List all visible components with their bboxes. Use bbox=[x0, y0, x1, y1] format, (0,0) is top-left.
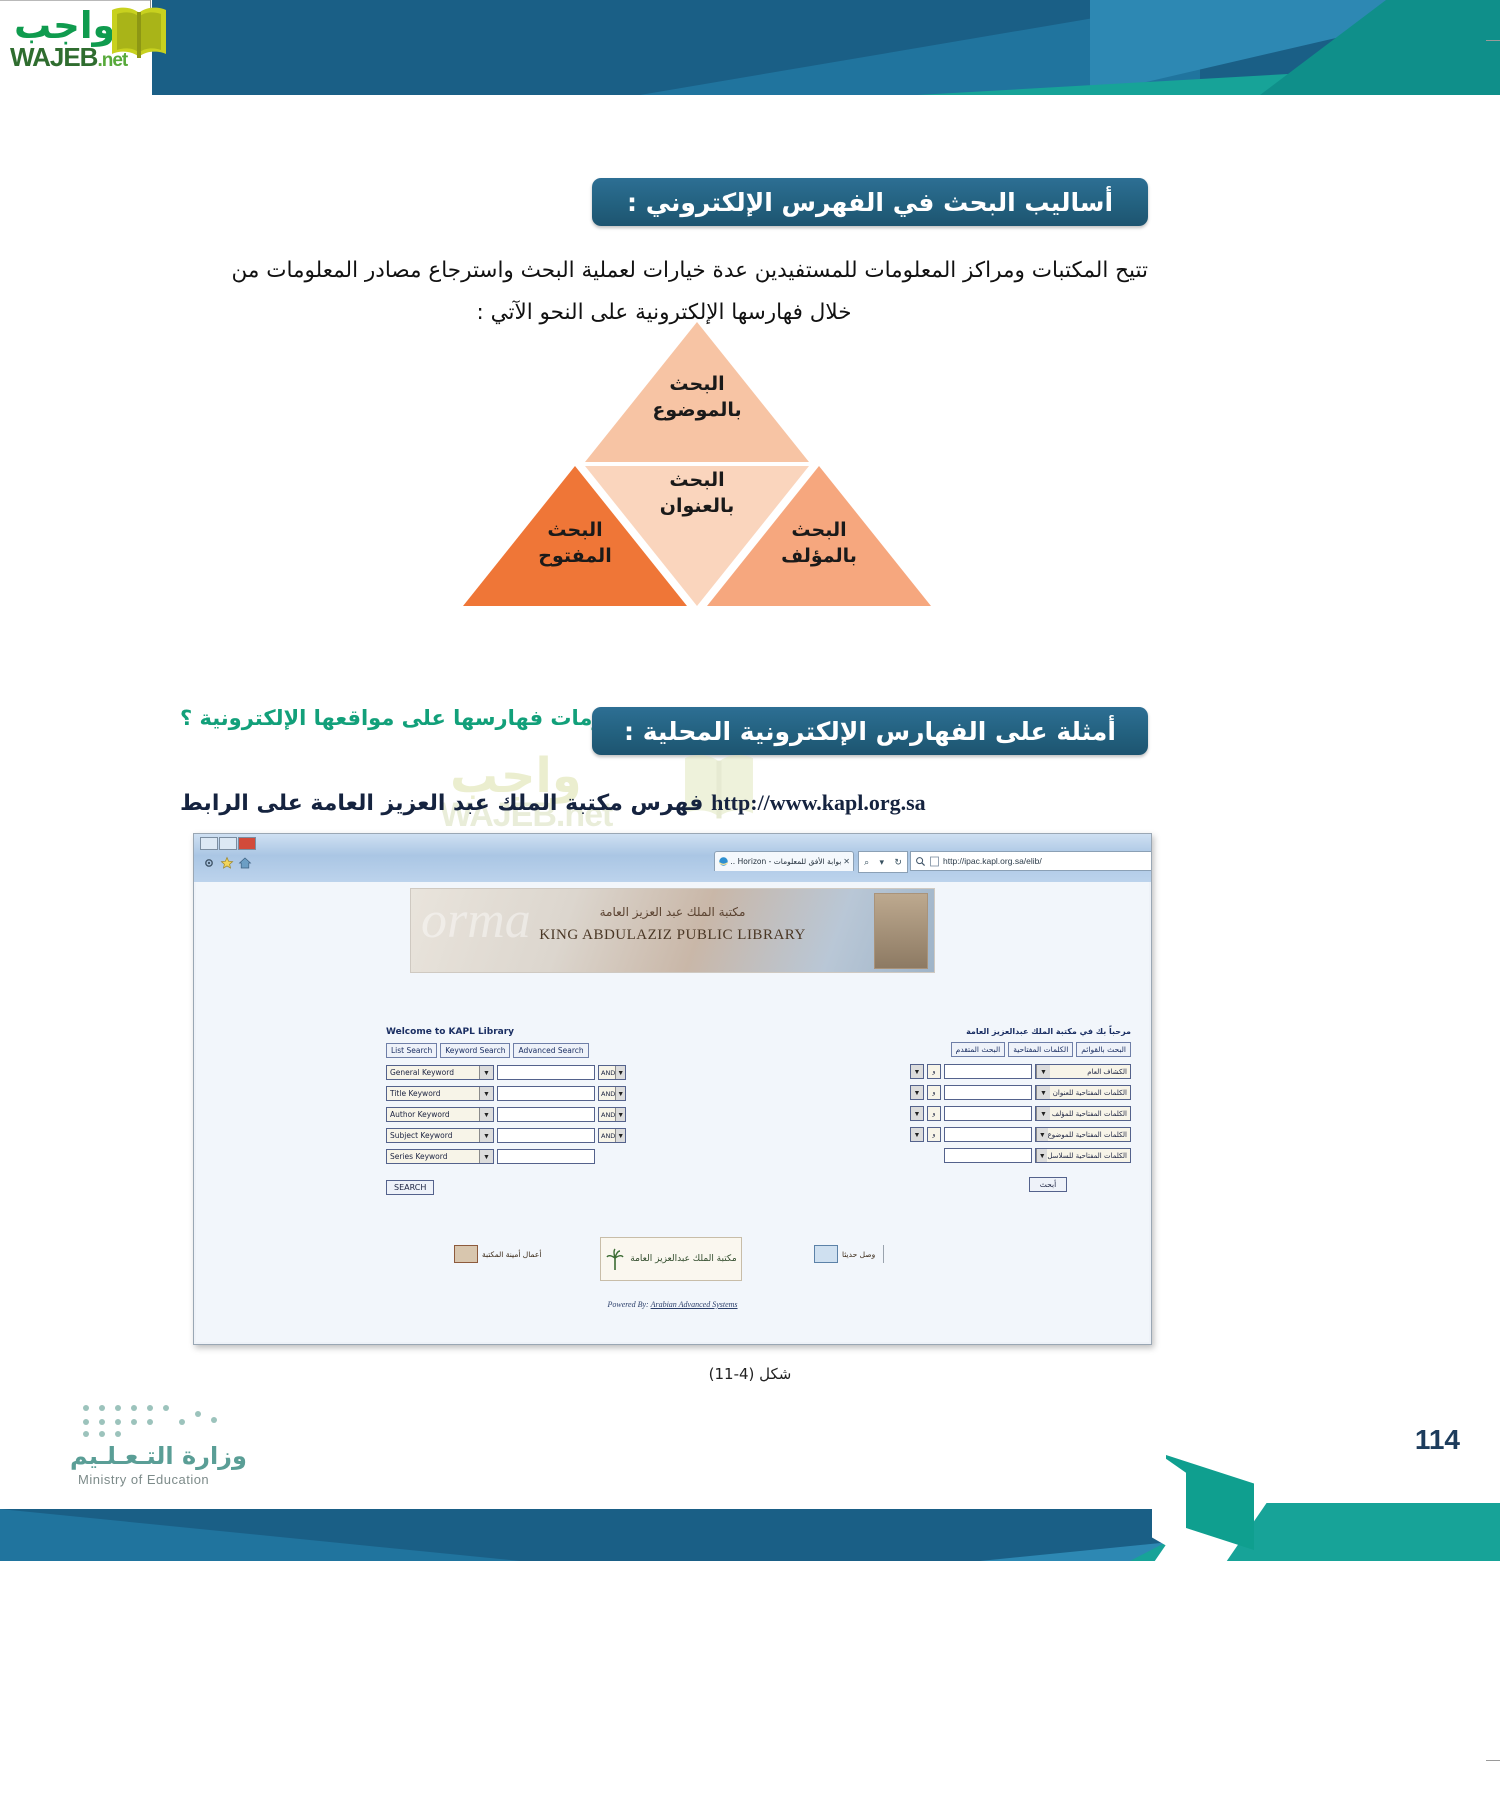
window-maximize-button[interactable] bbox=[200, 837, 218, 850]
operator-label-4-ar: و bbox=[927, 1127, 941, 1142]
chevron-down-icon[interactable]: ▼ bbox=[479, 1087, 493, 1100]
gear-icon[interactable] bbox=[202, 856, 216, 870]
chevron-down-icon[interactable]: ▼ bbox=[1036, 1149, 1047, 1162]
book-icon bbox=[454, 1245, 478, 1263]
search-row: Series Keyword ▼ bbox=[386, 1149, 636, 1164]
english-search-form: Welcome to KAPL Library List Search Keyw… bbox=[386, 1027, 636, 1195]
arabic-welcome-text: مرحباً بك في مكتبة الملك عبدالعزيز العام… bbox=[881, 1027, 1131, 1036]
tab-list-search[interactable]: List Search bbox=[386, 1043, 437, 1058]
window-close-button[interactable] bbox=[238, 837, 256, 850]
zoom-icon[interactable] bbox=[915, 856, 926, 867]
operator-label-3-ar: و bbox=[927, 1106, 941, 1121]
chevron-down-icon[interactable]: ▼ bbox=[1036, 1086, 1050, 1099]
search-row: Title Keyword ▼ AND▼ bbox=[386, 1086, 636, 1101]
search-row: Subject Keyword ▼ AND▼ bbox=[386, 1128, 636, 1143]
wajeb-logo-arabic: واجب bbox=[14, 4, 116, 47]
tab-title: بوابة الأفق للمعلومات - Horizon ... bbox=[731, 857, 841, 866]
operator-label-1-ar: و bbox=[927, 1064, 941, 1079]
field-select-author-keyword[interactable]: Author Keyword ▼ bbox=[386, 1107, 494, 1122]
heading-search-methods: أساليب البحث في الفهرس الإلكتروني : bbox=[592, 178, 1148, 226]
internet-explorer-icon bbox=[718, 856, 729, 867]
page-footer-banner bbox=[0, 1503, 1500, 1561]
moe-dot-pattern-icon bbox=[78, 1400, 228, 1440]
kapl-seal: مكتبة الملك عبدالعزيز العامة bbox=[600, 1237, 742, 1281]
site-footer-logos: أعمال أمينة المكتبة مكتبة الملك عبدالعزي… bbox=[196, 1237, 1149, 1287]
kapl-seal-label: مكتبة الملك عبدالعزيز العامة bbox=[630, 1254, 736, 1264]
select-label: الكلمات المفتاحية للموضوع bbox=[1048, 1131, 1127, 1139]
chevron-down-icon[interactable]: ▼ bbox=[1036, 1128, 1048, 1141]
browser-chrome: ✕ بوابة الأفق للمعلومات - Horizon ... ↻ … bbox=[194, 834, 1151, 882]
search-input-subject-ar[interactable] bbox=[944, 1127, 1032, 1142]
select-label: الكلمات المفتاحية للسلاسل bbox=[1047, 1152, 1127, 1160]
browser-screenshot-figure: ✕ بوابة الأفق للمعلومات - Horizon ... ↻ … bbox=[193, 833, 1152, 1345]
browser-nav-box[interactable]: ↻ ▾ ⌕ bbox=[858, 851, 908, 873]
chevron-down-icon[interactable]: ▾ bbox=[880, 857, 885, 868]
open-book-icon bbox=[108, 2, 170, 64]
divider bbox=[883, 1245, 884, 1263]
operator-select-3[interactable]: AND▼ bbox=[598, 1107, 626, 1122]
english-search-tabs: List Search Keyword Search Advanced Sear… bbox=[386, 1043, 636, 1058]
select-label: Series Keyword bbox=[390, 1152, 447, 1161]
tab-list-search-ar[interactable]: البحث بالقوائم bbox=[1076, 1042, 1131, 1057]
search-input-series-ar[interactable] bbox=[944, 1148, 1032, 1163]
arabic-search-tabs: البحث بالقوائم الكلمات المفتاحية البحث ا… bbox=[881, 1042, 1131, 1057]
triangle-open-search-label: البحث المفتوح bbox=[463, 518, 687, 569]
search-input-general[interactable] bbox=[497, 1065, 595, 1080]
field-select-author-ar[interactable]: الكلمات المفتاحية للمؤلف ▼ bbox=[1035, 1106, 1131, 1121]
search-row: Author Keyword ▼ AND▼ bbox=[386, 1107, 636, 1122]
tab-keyword-search-ar[interactable]: الكلمات المفتاحية bbox=[1008, 1042, 1073, 1057]
chevron-down-icon[interactable]: ▼ bbox=[1036, 1065, 1050, 1078]
figure-caption: شكل (4-11) bbox=[0, 1365, 1500, 1383]
search-input-general-ar[interactable] bbox=[944, 1064, 1032, 1079]
powered-by-vendor[interactable]: Arabian Advanced Systems bbox=[651, 1300, 738, 1309]
select-label: Title Keyword bbox=[390, 1089, 441, 1098]
star-icon[interactable] bbox=[220, 856, 234, 870]
footer-check-badge bbox=[1166, 1455, 1254, 1550]
footer-diagonal-shape-1 bbox=[0, 1509, 520, 1561]
tab-advanced-search[interactable]: Advanced Search bbox=[513, 1043, 588, 1058]
select-label: Subject Keyword bbox=[390, 1131, 452, 1140]
powered-by-prefix: Powered By: bbox=[607, 1300, 648, 1309]
search-input-author-ar[interactable] bbox=[944, 1106, 1032, 1121]
footer-logo-new-arrivals[interactable]: وصل حديثا bbox=[814, 1245, 884, 1263]
search-row-ar: الكلمات المفتاحية للعنوان ▼ و ▼ bbox=[881, 1085, 1131, 1100]
search-row-ar: الكشاف العام ▼ و ▼ bbox=[881, 1064, 1131, 1079]
field-select-series-keyword[interactable]: Series Keyword ▼ bbox=[386, 1149, 494, 1164]
select-label: الكلمات المفتاحية للمؤلف bbox=[1052, 1110, 1127, 1118]
select-label: الكشاف العام bbox=[1087, 1068, 1127, 1076]
field-select-general-index-ar[interactable]: الكشاف العام ▼ bbox=[1035, 1064, 1131, 1079]
heading-local-catalog-examples: أمثلة على الفهارس الإلكترونية المحلية : bbox=[592, 707, 1148, 755]
search-row-ar: الكلمات المفتاحية للمؤلف ▼ و ▼ bbox=[881, 1106, 1131, 1121]
ministry-of-education-logo: وزارة التـعـلـيم Ministry of Education bbox=[70, 1400, 370, 1490]
page-icon bbox=[929, 856, 940, 867]
arabic-search-button[interactable]: أبحث bbox=[1029, 1177, 1067, 1192]
refresh-icon[interactable]: ↻ bbox=[894, 857, 902, 868]
kapl-catalog-link-line: http://www.kapl.org.sa فهرس مكتبة الملك … bbox=[180, 790, 1148, 816]
field-select-general-keyword[interactable]: General Keyword ▼ bbox=[386, 1065, 494, 1080]
library-name-arabic: مكتبة الملك عبد العزيز العامة bbox=[411, 905, 934, 919]
footer-logo-librarian[interactable]: أعمال أمينة المكتبة bbox=[454, 1245, 541, 1263]
ministry-name-english: Ministry of Education bbox=[78, 1472, 209, 1487]
search-input-author[interactable] bbox=[497, 1107, 595, 1122]
select-label: General Keyword bbox=[390, 1068, 454, 1077]
tab-keyword-search[interactable]: Keyword Search bbox=[440, 1043, 510, 1058]
search-methods-diagram: البحث بالموضوع البحث بالعنوان البحث المف… bbox=[455, 322, 885, 602]
triangle-subject-label: البحث بالموضوع bbox=[585, 372, 809, 423]
tab-close-icon[interactable]: ✕ bbox=[843, 857, 850, 866]
chevron-down-icon[interactable]: ▼ bbox=[479, 1150, 493, 1163]
search-input-subject[interactable] bbox=[497, 1128, 595, 1143]
library-name-english: KING ABDULAZIZ PUBLIC LIBRARY bbox=[411, 927, 934, 944]
field-select-title-keyword[interactable]: Title Keyword ▼ bbox=[386, 1086, 494, 1101]
address-bar-url: http://ipac.kapl.org.sa/elib/ bbox=[943, 856, 1042, 866]
home-icon[interactable] bbox=[238, 856, 252, 870]
select-label: Author Keyword bbox=[390, 1110, 450, 1119]
field-select-subject-keyword[interactable]: Subject Keyword ▼ bbox=[386, 1128, 494, 1143]
english-search-button[interactable]: SEARCH bbox=[386, 1180, 434, 1195]
intro-line-1: تتيح المكتبات ومراكز المعلومات للمستفيدي… bbox=[232, 258, 1149, 283]
browser-tab[interactable]: ✕ بوابة الأفق للمعلومات - Horizon ... bbox=[714, 851, 854, 871]
chevron-down-icon[interactable]: ▼ bbox=[615, 1087, 625, 1100]
chevron-down-icon[interactable]: ▼ bbox=[479, 1108, 493, 1121]
kapl-catalog-link-text: فهرس مكتبة الملك عبد العزيز العامة على ا… bbox=[180, 791, 703, 816]
powered-by-line: Powered By: Arabian Advanced Systems bbox=[196, 1300, 1149, 1309]
operator-select-2[interactable]: AND▼ bbox=[598, 1086, 626, 1101]
chevron-down-icon[interactable]: ▼ bbox=[615, 1108, 625, 1121]
field-select-series-ar[interactable]: الكلمات المفتاحية للسلاسل ▼ bbox=[1035, 1148, 1131, 1163]
chevron-down-icon[interactable]: ▼ bbox=[615, 1129, 625, 1142]
address-bar[interactable]: http://ipac.kapl.org.sa/elib/ bbox=[910, 851, 1152, 871]
chevron-down-icon[interactable]: ▼ bbox=[1036, 1107, 1050, 1120]
footer-logo-librarian-label: أعمال أمينة المكتبة bbox=[482, 1250, 541, 1259]
chevron-down-icon[interactable]: ▼ bbox=[910, 1064, 924, 1079]
ministry-name-arabic: وزارة التـعـلـيم bbox=[70, 1442, 247, 1470]
footer-logo-new-arrivals-label: وصل حديثا bbox=[842, 1250, 875, 1259]
kapl-catalog-url[interactable]: http://www.kapl.org.sa bbox=[711, 790, 926, 816]
footer-logo-kapl[interactable]: مكتبة الملك عبدالعزيز العامة bbox=[600, 1237, 742, 1281]
chevron-down-icon[interactable]: ▼ bbox=[615, 1066, 625, 1079]
select-label: الكلمات المفتاحية للعنوان bbox=[1053, 1089, 1127, 1097]
tab-advanced-search-ar[interactable]: البحث المتقدم bbox=[951, 1042, 1006, 1057]
chevron-down-icon[interactable]: ▼ bbox=[479, 1066, 493, 1079]
operator-select-4[interactable]: AND▼ bbox=[598, 1128, 626, 1143]
chevron-down-icon[interactable]: ▼ bbox=[910, 1085, 924, 1100]
window-minimize-button[interactable] bbox=[219, 837, 237, 850]
field-select-subject-ar[interactable]: الكلمات المفتاحية للموضوع ▼ bbox=[1035, 1127, 1131, 1142]
search-input-title-ar[interactable] bbox=[944, 1085, 1032, 1100]
search-icon[interactable]: ⌕ bbox=[864, 857, 869, 868]
field-select-title-ar[interactable]: الكلمات المفتاحية للعنوان ▼ bbox=[1035, 1085, 1131, 1100]
document-icon bbox=[814, 1245, 838, 1263]
header-tick-line bbox=[0, 0, 150, 1]
chevron-down-icon[interactable]: ▼ bbox=[910, 1127, 924, 1142]
chevron-down-icon[interactable]: ▼ bbox=[479, 1129, 493, 1142]
window-controls[interactable] bbox=[200, 837, 256, 850]
search-input-series[interactable] bbox=[497, 1149, 595, 1164]
browser-page-content: orma مكتبة الملك عبد العزيز العامة KING … bbox=[196, 882, 1149, 1342]
library-banner: orma مكتبة الملك عبد العزيز العامة KING … bbox=[410, 888, 935, 973]
page-number: 114 bbox=[1415, 1424, 1460, 1456]
chevron-down-icon[interactable]: ▼ bbox=[910, 1106, 924, 1121]
search-row-ar: الكلمات المفتاحية للموضوع ▼ و ▼ bbox=[881, 1127, 1131, 1142]
search-row-ar: الكلمات المفتاحية للسلاسل ▼ bbox=[881, 1148, 1131, 1163]
page-header-banner: واجب WAJEB.net bbox=[0, 0, 1500, 95]
arabic-search-form: مرحباً بك في مكتبة الملك عبدالعزيز العام… bbox=[881, 1027, 1131, 1192]
palm-tree-icon bbox=[605, 1246, 625, 1272]
english-welcome-text: Welcome to KAPL Library bbox=[386, 1027, 636, 1037]
search-row: General Keyword ▼ AND▼ bbox=[386, 1065, 636, 1080]
operator-select-1[interactable]: AND▼ bbox=[598, 1065, 626, 1080]
triangle-author-label: البحث بالمؤلف bbox=[707, 518, 931, 569]
search-input-title[interactable] bbox=[497, 1086, 595, 1101]
operator-label-2-ar: و bbox=[927, 1085, 941, 1100]
